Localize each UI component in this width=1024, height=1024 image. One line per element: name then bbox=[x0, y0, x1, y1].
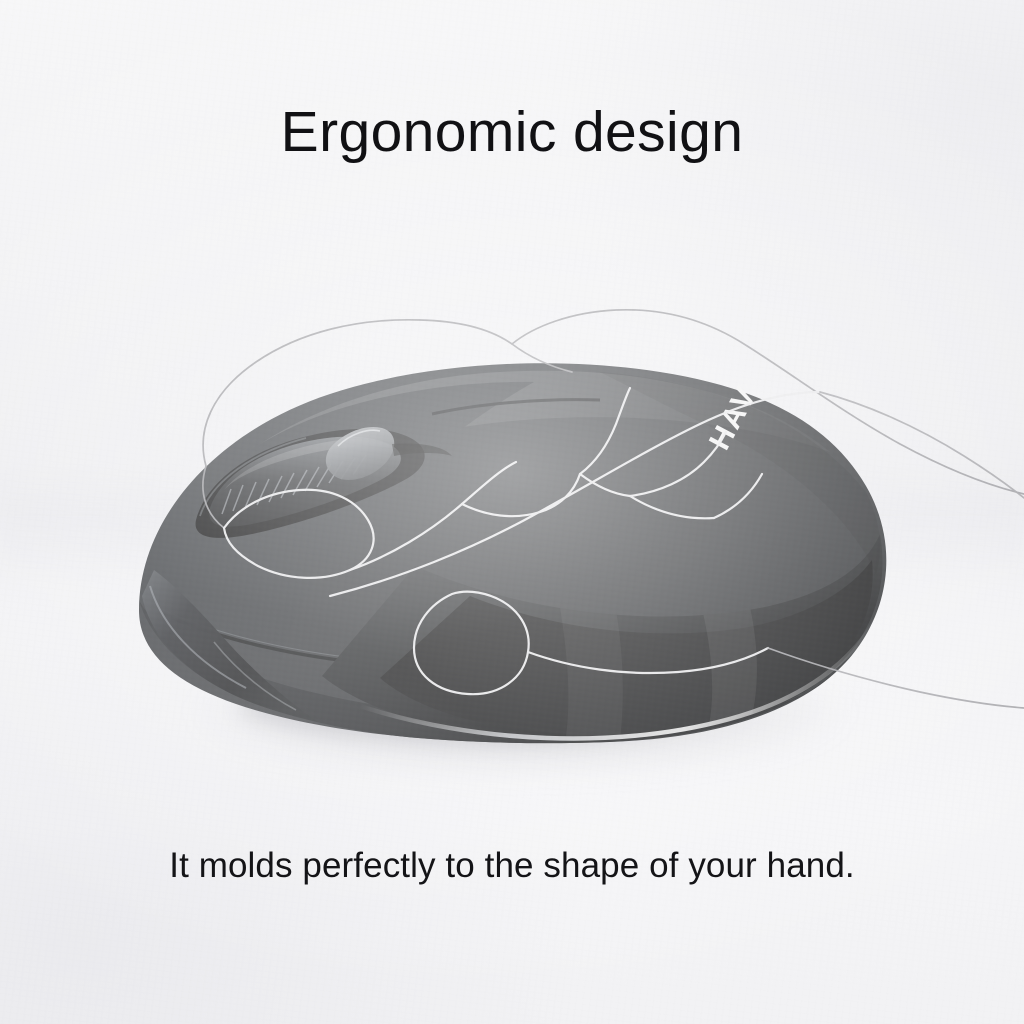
product-feature-image: HAV bbox=[0, 0, 1024, 1024]
page-title: Ergonomic design bbox=[0, 104, 1024, 161]
page-caption: It molds perfectly to the shape of your … bbox=[0, 848, 1024, 883]
mouse-body: HAV bbox=[139, 363, 886, 744]
